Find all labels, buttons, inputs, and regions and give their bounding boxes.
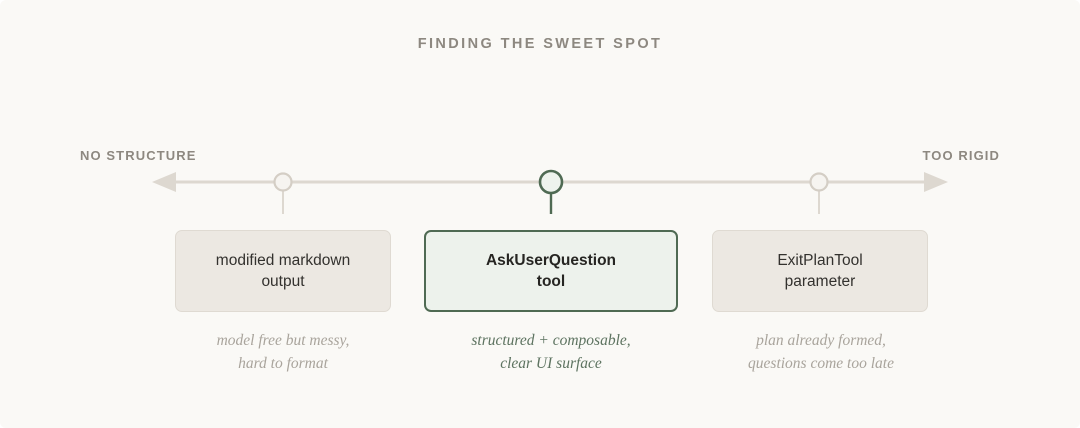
option-card-modified-markdown-output[interactable]: modified markdown output [175, 230, 391, 312]
option-card-label: modified markdown output [216, 250, 350, 293]
page-title: FINDING THE SWEET SPOT [0, 36, 1080, 52]
arrow-right-icon [924, 172, 948, 192]
circle-node-icon[interactable] [811, 174, 828, 191]
circle-node-selected-icon[interactable] [540, 171, 562, 193]
option-card-label: ExitPlanTool parameter [777, 250, 862, 293]
option-caption-askuserquestion-tool: structured + composable, clear UI surfac… [424, 330, 678, 376]
arrow-left-icon [152, 172, 176, 192]
option-caption-modified-markdown-output: model free but messy, hard to format [175, 330, 391, 376]
axis-label-too-rigid: TOO RIGID [922, 148, 1000, 163]
option-card-label: AskUserQuestion tool [486, 250, 616, 293]
option-card-exitplantool-parameter[interactable]: ExitPlanTool parameter [712, 230, 928, 312]
axis-label-no-structure: NO STRUCTURE [80, 148, 196, 163]
option-caption-exitplantool-parameter: plan already formed, questions come too … [708, 330, 934, 376]
diagram-canvas: FINDING THE SWEET SPOT NO STRUCTURE TOO … [0, 0, 1080, 428]
circle-node-icon[interactable] [275, 174, 292, 191]
option-card-askuserquestion-tool[interactable]: AskUserQuestion tool [424, 230, 678, 312]
